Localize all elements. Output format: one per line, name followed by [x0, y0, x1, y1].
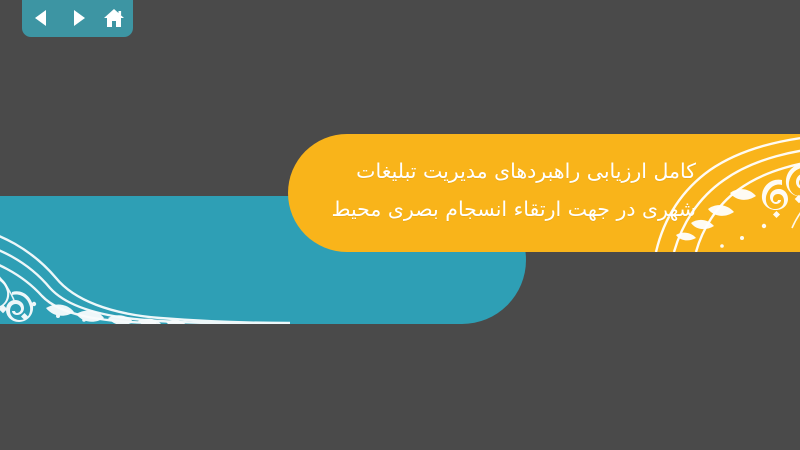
presentation-slide: کامل ارزیابی راهبردهای مدیریت تبلیغات شه… [0, 0, 800, 450]
home-icon [103, 8, 125, 29]
triangle-right-icon [68, 8, 88, 28]
slide-title-line-1: کامل ارزیابی راهبردهای مدیریت تبلیغات [332, 152, 696, 190]
slide-title-line-2: شهری در جهت ارتقاء انسجام بصری محیط [332, 190, 696, 228]
next-slide-button[interactable] [63, 5, 93, 31]
slide-title: کامل ارزیابی راهبردهای مدیریت تبلیغات شه… [332, 152, 696, 228]
title-panel: کامل ارزیابی راهبردهای مدیریت تبلیغات شه… [288, 134, 800, 252]
home-button[interactable] [99, 5, 129, 31]
slide-navigation-bar[interactable] [22, 0, 133, 37]
triangle-left-icon [32, 8, 52, 28]
arabesque-ornament-bottom-left [0, 196, 290, 324]
previous-slide-button[interactable] [27, 5, 57, 31]
